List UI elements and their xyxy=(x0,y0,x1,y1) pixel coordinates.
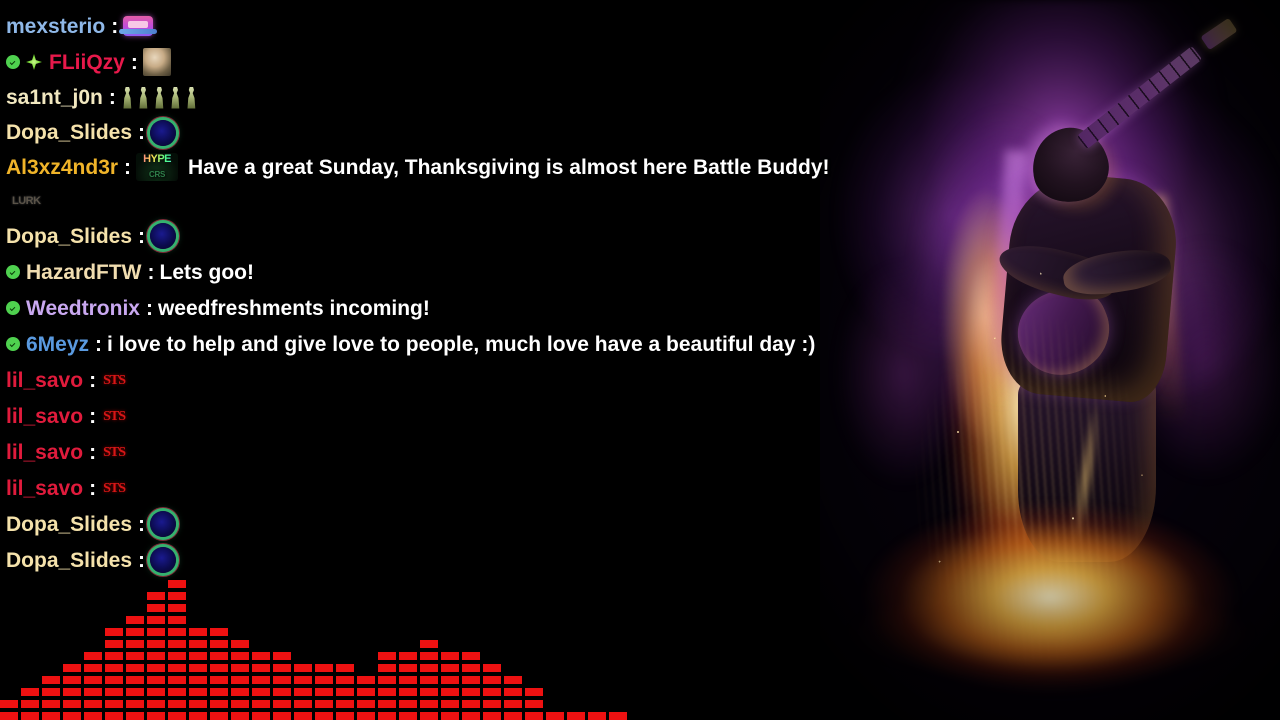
visualizer-bar xyxy=(105,628,123,720)
visualizer-segment xyxy=(189,688,207,696)
chat-message: 6Meyz:i love to help and give love to pe… xyxy=(6,326,830,362)
visualizer-segment xyxy=(357,700,375,708)
visualizer-segment xyxy=(378,652,396,660)
visualizer-segment xyxy=(399,676,417,684)
pawn-emote xyxy=(185,87,198,109)
chat-message: lil_savo:STS xyxy=(6,470,830,506)
visualizer-segment xyxy=(21,712,39,720)
visualizer-segment xyxy=(105,688,123,696)
visualizer-segment xyxy=(147,616,165,624)
visualizer-segment xyxy=(315,700,333,708)
visualizer-segment xyxy=(210,640,228,648)
chat-username[interactable]: lil_savo xyxy=(6,370,83,391)
chat-username[interactable]: Weedtronix xyxy=(26,298,140,319)
visualizer-segment xyxy=(378,712,396,720)
visualizer-segment xyxy=(210,712,228,720)
visualizer-segment xyxy=(462,652,480,660)
chat-separator: : xyxy=(148,262,155,283)
visualizer-segment xyxy=(63,664,81,672)
visualizer-segment xyxy=(84,712,102,720)
visualizer-segment xyxy=(420,640,438,648)
visualizer-segment xyxy=(189,664,207,672)
artwork-panel xyxy=(820,0,1280,720)
visualizer-segment xyxy=(273,712,291,720)
verified-badge xyxy=(6,301,20,315)
visualizer-bar xyxy=(42,676,60,720)
visualizer-segment xyxy=(357,676,375,684)
visualizer-segment xyxy=(84,688,102,696)
visualizer-segment xyxy=(399,700,417,708)
visualizer-segment xyxy=(273,664,291,672)
visualizer-segment xyxy=(63,712,81,720)
visualizer-segment xyxy=(231,652,249,660)
chat-message-text: Have a great Sunday, Thanksgiving is alm… xyxy=(188,157,829,178)
chat-username[interactable]: lil_savo xyxy=(6,406,83,427)
visualizer-segment xyxy=(147,700,165,708)
visualizer-segment xyxy=(546,712,564,720)
visualizer-segment xyxy=(420,688,438,696)
chat-separator: : xyxy=(138,514,145,535)
audio-visualizer xyxy=(0,580,660,720)
visualizer-segment xyxy=(42,676,60,684)
visualizer-segment xyxy=(126,640,144,648)
chat-message-text: weedfreshments incoming! xyxy=(158,298,430,319)
chat-separator: : xyxy=(138,122,145,143)
visualizer-segment xyxy=(504,700,522,708)
visualizer-segment xyxy=(0,700,18,708)
visualizer-segment xyxy=(231,640,249,648)
visualizer-segment xyxy=(168,640,186,648)
artwork-vignette xyxy=(820,0,1280,720)
sts-emote: STS xyxy=(101,444,127,461)
visualizer-segment xyxy=(273,700,291,708)
visualizer-segment xyxy=(147,604,165,612)
visualizer-segment xyxy=(231,700,249,708)
visualizer-segment xyxy=(189,628,207,636)
visualizer-segment xyxy=(399,688,417,696)
visualizer-segment xyxy=(462,688,480,696)
chat-message-text: i love to help and give love to people, … xyxy=(107,334,815,355)
visualizer-segment xyxy=(336,688,354,696)
visualizer-segment xyxy=(189,712,207,720)
chat-separator: : xyxy=(89,406,96,427)
visualizer-bar xyxy=(294,664,312,720)
visualizer-segment xyxy=(420,652,438,660)
visualizer-segment xyxy=(378,664,396,672)
chat-separator: : xyxy=(95,334,102,355)
chat-message: Dopa_Slides: xyxy=(6,542,830,578)
chat-separator: : xyxy=(89,370,96,391)
pawn-emote xyxy=(169,87,182,109)
visualizer-segment xyxy=(399,712,417,720)
visualizer-segment xyxy=(189,652,207,660)
visualizer-segment xyxy=(315,664,333,672)
chat-message: FLiiQzy: xyxy=(6,44,830,80)
visualizer-segment xyxy=(315,688,333,696)
visualizer-segment xyxy=(168,628,186,636)
verified-badge xyxy=(6,337,20,351)
visualizer-segment xyxy=(567,712,585,720)
visualizer-segment xyxy=(126,676,144,684)
visualizer-segment xyxy=(525,688,543,696)
visualizer-segment xyxy=(273,688,291,696)
sts-emote: STS xyxy=(101,372,127,389)
chat-message-continuation: LURK xyxy=(6,184,830,218)
visualizer-segment xyxy=(168,712,186,720)
visualizer-segment xyxy=(294,712,312,720)
visualizer-segment xyxy=(294,688,312,696)
visualizer-bar xyxy=(21,688,39,720)
visualizer-bar xyxy=(315,664,333,720)
visualizer-segment xyxy=(441,652,459,660)
visualizer-segment xyxy=(378,676,396,684)
visualizer-segment xyxy=(147,640,165,648)
visualizer-segment xyxy=(483,676,501,684)
visualizer-segment xyxy=(84,676,102,684)
visualizer-segment xyxy=(126,700,144,708)
visualizer-segment xyxy=(483,712,501,720)
chat-separator: : xyxy=(146,298,153,319)
visualizer-segment xyxy=(483,664,501,672)
visualizer-segment xyxy=(525,700,543,708)
visualizer-segment xyxy=(147,652,165,660)
visualizer-bar xyxy=(378,652,396,720)
chat-username[interactable]: Dopa_Slides xyxy=(6,226,132,247)
visualizer-bar xyxy=(504,676,522,720)
visualizer-segment xyxy=(357,712,375,720)
orb-emote xyxy=(150,547,176,573)
visualizer-segment xyxy=(0,712,18,720)
chat-message: lil_savo:STS xyxy=(6,398,830,434)
visualizer-segment xyxy=(147,592,165,600)
visualizer-bar xyxy=(273,652,291,720)
visualizer-segment xyxy=(378,688,396,696)
visualizer-bar xyxy=(147,592,165,720)
visualizer-segment xyxy=(336,712,354,720)
chat-message: lil_savo:STS xyxy=(6,434,830,470)
visualizer-segment xyxy=(189,676,207,684)
visualizer-segment xyxy=(462,676,480,684)
visualizer-segment xyxy=(168,604,186,612)
chat-username[interactable]: sa1nt_j0n xyxy=(6,87,103,108)
visualizer-bar xyxy=(588,712,606,720)
chat-username[interactable]: lil_savo xyxy=(6,442,83,463)
chat-username[interactable]: mexsterio xyxy=(6,16,105,37)
visualizer-segment xyxy=(168,688,186,696)
visualizer-segment xyxy=(147,664,165,672)
visualizer-segment xyxy=(168,592,186,600)
lurk-emote: LURK xyxy=(12,191,50,211)
visualizer-bar xyxy=(126,616,144,720)
visualizer-segment xyxy=(84,700,102,708)
sts-emote: STS xyxy=(101,408,127,425)
visualizer-segment xyxy=(483,688,501,696)
chat-message: Dopa_Slides: xyxy=(6,218,830,254)
chat-message: mexsterio: xyxy=(6,8,830,44)
chat-username[interactable]: HazardFTW xyxy=(26,262,142,283)
visualizer-segment xyxy=(147,628,165,636)
visualizer-segment xyxy=(441,688,459,696)
visualizer-segment xyxy=(147,688,165,696)
visualizer-segment xyxy=(210,628,228,636)
visualizer-segment xyxy=(189,640,207,648)
visualizer-bar xyxy=(567,712,585,720)
chat-message-text: Lets goo! xyxy=(160,262,255,283)
visualizer-segment xyxy=(441,676,459,684)
diamond-badge xyxy=(26,54,42,70)
chat-message: Dopa_Slides: xyxy=(6,115,830,150)
stream-overlay-stage: mexsterio:FLiiQzy:sa1nt_j0n:Dopa_Slides:… xyxy=(0,0,1280,720)
chat-username[interactable]: FLiiQzy xyxy=(49,52,125,73)
visualizer-segment xyxy=(231,712,249,720)
visualizer-segment xyxy=(105,652,123,660)
visualizer-segment xyxy=(399,664,417,672)
visualizer-segment xyxy=(504,676,522,684)
visualizer-segment xyxy=(21,700,39,708)
hype-emote-top-text: HYPE xyxy=(136,154,178,165)
visualizer-segment xyxy=(462,700,480,708)
photo-emote xyxy=(143,48,171,76)
pawn-emote xyxy=(153,87,166,109)
visualizer-bar xyxy=(252,652,270,720)
visualizer-segment xyxy=(252,652,270,660)
chat-message-list: mexsterio:FLiiQzy:sa1nt_j0n:Dopa_Slides:… xyxy=(0,0,830,575)
visualizer-bar xyxy=(357,676,375,720)
visualizer-segment xyxy=(336,676,354,684)
hype-emote-bottom-text: CRS xyxy=(136,171,178,179)
hype-emote: HYPECRS xyxy=(136,153,178,181)
visualizer-bar xyxy=(441,652,459,720)
visualizer-segment xyxy=(210,676,228,684)
visualizer-segment xyxy=(273,652,291,660)
chat-message: sa1nt_j0n: xyxy=(6,80,830,115)
visualizer-segment xyxy=(420,676,438,684)
visualizer-segment xyxy=(231,688,249,696)
chat-message: lil_savo:STS xyxy=(6,362,830,398)
visualizer-bar xyxy=(63,664,81,720)
visualizer-segment xyxy=(168,676,186,684)
chat-message: HazardFTW:Lets goo! xyxy=(6,254,830,290)
visualizer-segment xyxy=(126,628,144,636)
visualizer-segment xyxy=(315,676,333,684)
visualizer-segment xyxy=(63,700,81,708)
visualizer-segment xyxy=(588,712,606,720)
visualizer-segment xyxy=(378,700,396,708)
orb-emote xyxy=(150,511,176,537)
visualizer-segment xyxy=(441,664,459,672)
visualizer-segment xyxy=(168,664,186,672)
visualizer-segment xyxy=(42,700,60,708)
visualizer-segment xyxy=(126,664,144,672)
visualizer-segment xyxy=(252,664,270,672)
visualizer-segment xyxy=(231,664,249,672)
visualizer-segment xyxy=(273,676,291,684)
visualizer-segment xyxy=(231,676,249,684)
visualizer-segment xyxy=(210,652,228,660)
verified-badge xyxy=(6,265,20,279)
visualizer-segment xyxy=(105,676,123,684)
visualizer-segment xyxy=(252,688,270,696)
visualizer-bar xyxy=(546,712,564,720)
pawn-emote xyxy=(121,87,134,109)
chat-separator: : xyxy=(111,16,118,37)
visualizer-bar xyxy=(420,640,438,720)
visualizer-segment xyxy=(420,700,438,708)
chat-username[interactable]: Al3xz4nd3r xyxy=(6,157,118,178)
visualizer-segment xyxy=(105,712,123,720)
visualizer-segment xyxy=(441,712,459,720)
visualizer-segment xyxy=(504,712,522,720)
visualizer-segment xyxy=(105,640,123,648)
visualizer-segment xyxy=(294,676,312,684)
visualizer-segment xyxy=(315,712,333,720)
visualizer-bar xyxy=(336,664,354,720)
orb-emote xyxy=(150,223,176,249)
visualizer-bar xyxy=(0,700,18,720)
visualizer-bar xyxy=(189,628,207,720)
chat-message: Dopa_Slides: xyxy=(6,506,830,542)
chat-username[interactable]: lil_savo xyxy=(6,478,83,499)
chat-separator: : xyxy=(124,157,131,178)
visualizer-segment xyxy=(105,664,123,672)
visualizer-segment xyxy=(252,700,270,708)
visualizer-segment xyxy=(63,688,81,696)
visualizer-segment xyxy=(357,688,375,696)
verified-badge xyxy=(6,55,20,69)
visualizer-segment xyxy=(126,712,144,720)
visualizer-segment xyxy=(525,712,543,720)
visualizer-segment xyxy=(84,664,102,672)
visualizer-bar xyxy=(609,712,627,720)
visualizer-segment xyxy=(420,712,438,720)
chat-separator: : xyxy=(138,226,145,247)
visualizer-bar xyxy=(84,652,102,720)
chat-separator: : xyxy=(131,52,138,73)
visualizer-segment xyxy=(483,700,501,708)
orb-emote xyxy=(150,120,176,146)
visualizer-segment xyxy=(252,712,270,720)
chat-username[interactable]: Dopa_Slides xyxy=(6,550,132,571)
visualizer-segment xyxy=(63,676,81,684)
visualizer-segment xyxy=(105,700,123,708)
visualizer-bar xyxy=(231,640,249,720)
chat-separator: : xyxy=(89,478,96,499)
pawn-emote xyxy=(137,87,150,109)
visualizer-segment xyxy=(147,676,165,684)
sts-emote: STS xyxy=(101,480,127,497)
visualizer-bar xyxy=(210,628,228,720)
visualizer-segment xyxy=(126,616,144,624)
visualizer-segment xyxy=(147,712,165,720)
visualizer-bar xyxy=(168,580,186,720)
visualizer-segment xyxy=(336,664,354,672)
visualizer-segment xyxy=(168,652,186,660)
visualizer-segment xyxy=(126,688,144,696)
chat-username[interactable]: Dopa_Slides xyxy=(6,514,132,535)
visualizer-segment xyxy=(105,628,123,636)
visualizer-segment xyxy=(42,688,60,696)
chat-message: Weedtronix:weedfreshments incoming! xyxy=(6,290,830,326)
visualizer-segment xyxy=(84,652,102,660)
visualizer-segment xyxy=(462,712,480,720)
visualizer-segment xyxy=(210,664,228,672)
visualizer-segment xyxy=(294,664,312,672)
visualizer-segment xyxy=(420,664,438,672)
visualizer-bar xyxy=(462,652,480,720)
visualizer-segment xyxy=(336,700,354,708)
visualizer-segment xyxy=(210,688,228,696)
visualizer-segment xyxy=(21,688,39,696)
visualizer-segment xyxy=(609,712,627,720)
visualizer-segment xyxy=(399,652,417,660)
visualizer-segment xyxy=(441,700,459,708)
visualizer-segment xyxy=(294,700,312,708)
chat-separator: : xyxy=(138,550,145,571)
visualizer-segment xyxy=(168,580,186,588)
chat-separator: : xyxy=(89,442,96,463)
chat-message: Al3xz4nd3r:HYPECRSHave a great Sunday, T… xyxy=(6,150,830,184)
chat-username[interactable]: Dopa_Slides xyxy=(6,122,132,143)
bed-emote xyxy=(123,16,153,36)
visualizer-segment xyxy=(504,688,522,696)
chat-username[interactable]: 6Meyz xyxy=(26,334,89,355)
visualizer-bar xyxy=(483,664,501,720)
visualizer-bar xyxy=(399,652,417,720)
visualizer-segment xyxy=(42,712,60,720)
visualizer-segment xyxy=(252,676,270,684)
visualizer-segment xyxy=(462,664,480,672)
visualizer-segment xyxy=(168,700,186,708)
visualizer-segment xyxy=(210,700,228,708)
visualizer-segment xyxy=(189,700,207,708)
visualizer-segment xyxy=(126,652,144,660)
visualizer-bar xyxy=(525,688,543,720)
chat-separator: : xyxy=(109,87,116,108)
visualizer-segment xyxy=(168,616,186,624)
